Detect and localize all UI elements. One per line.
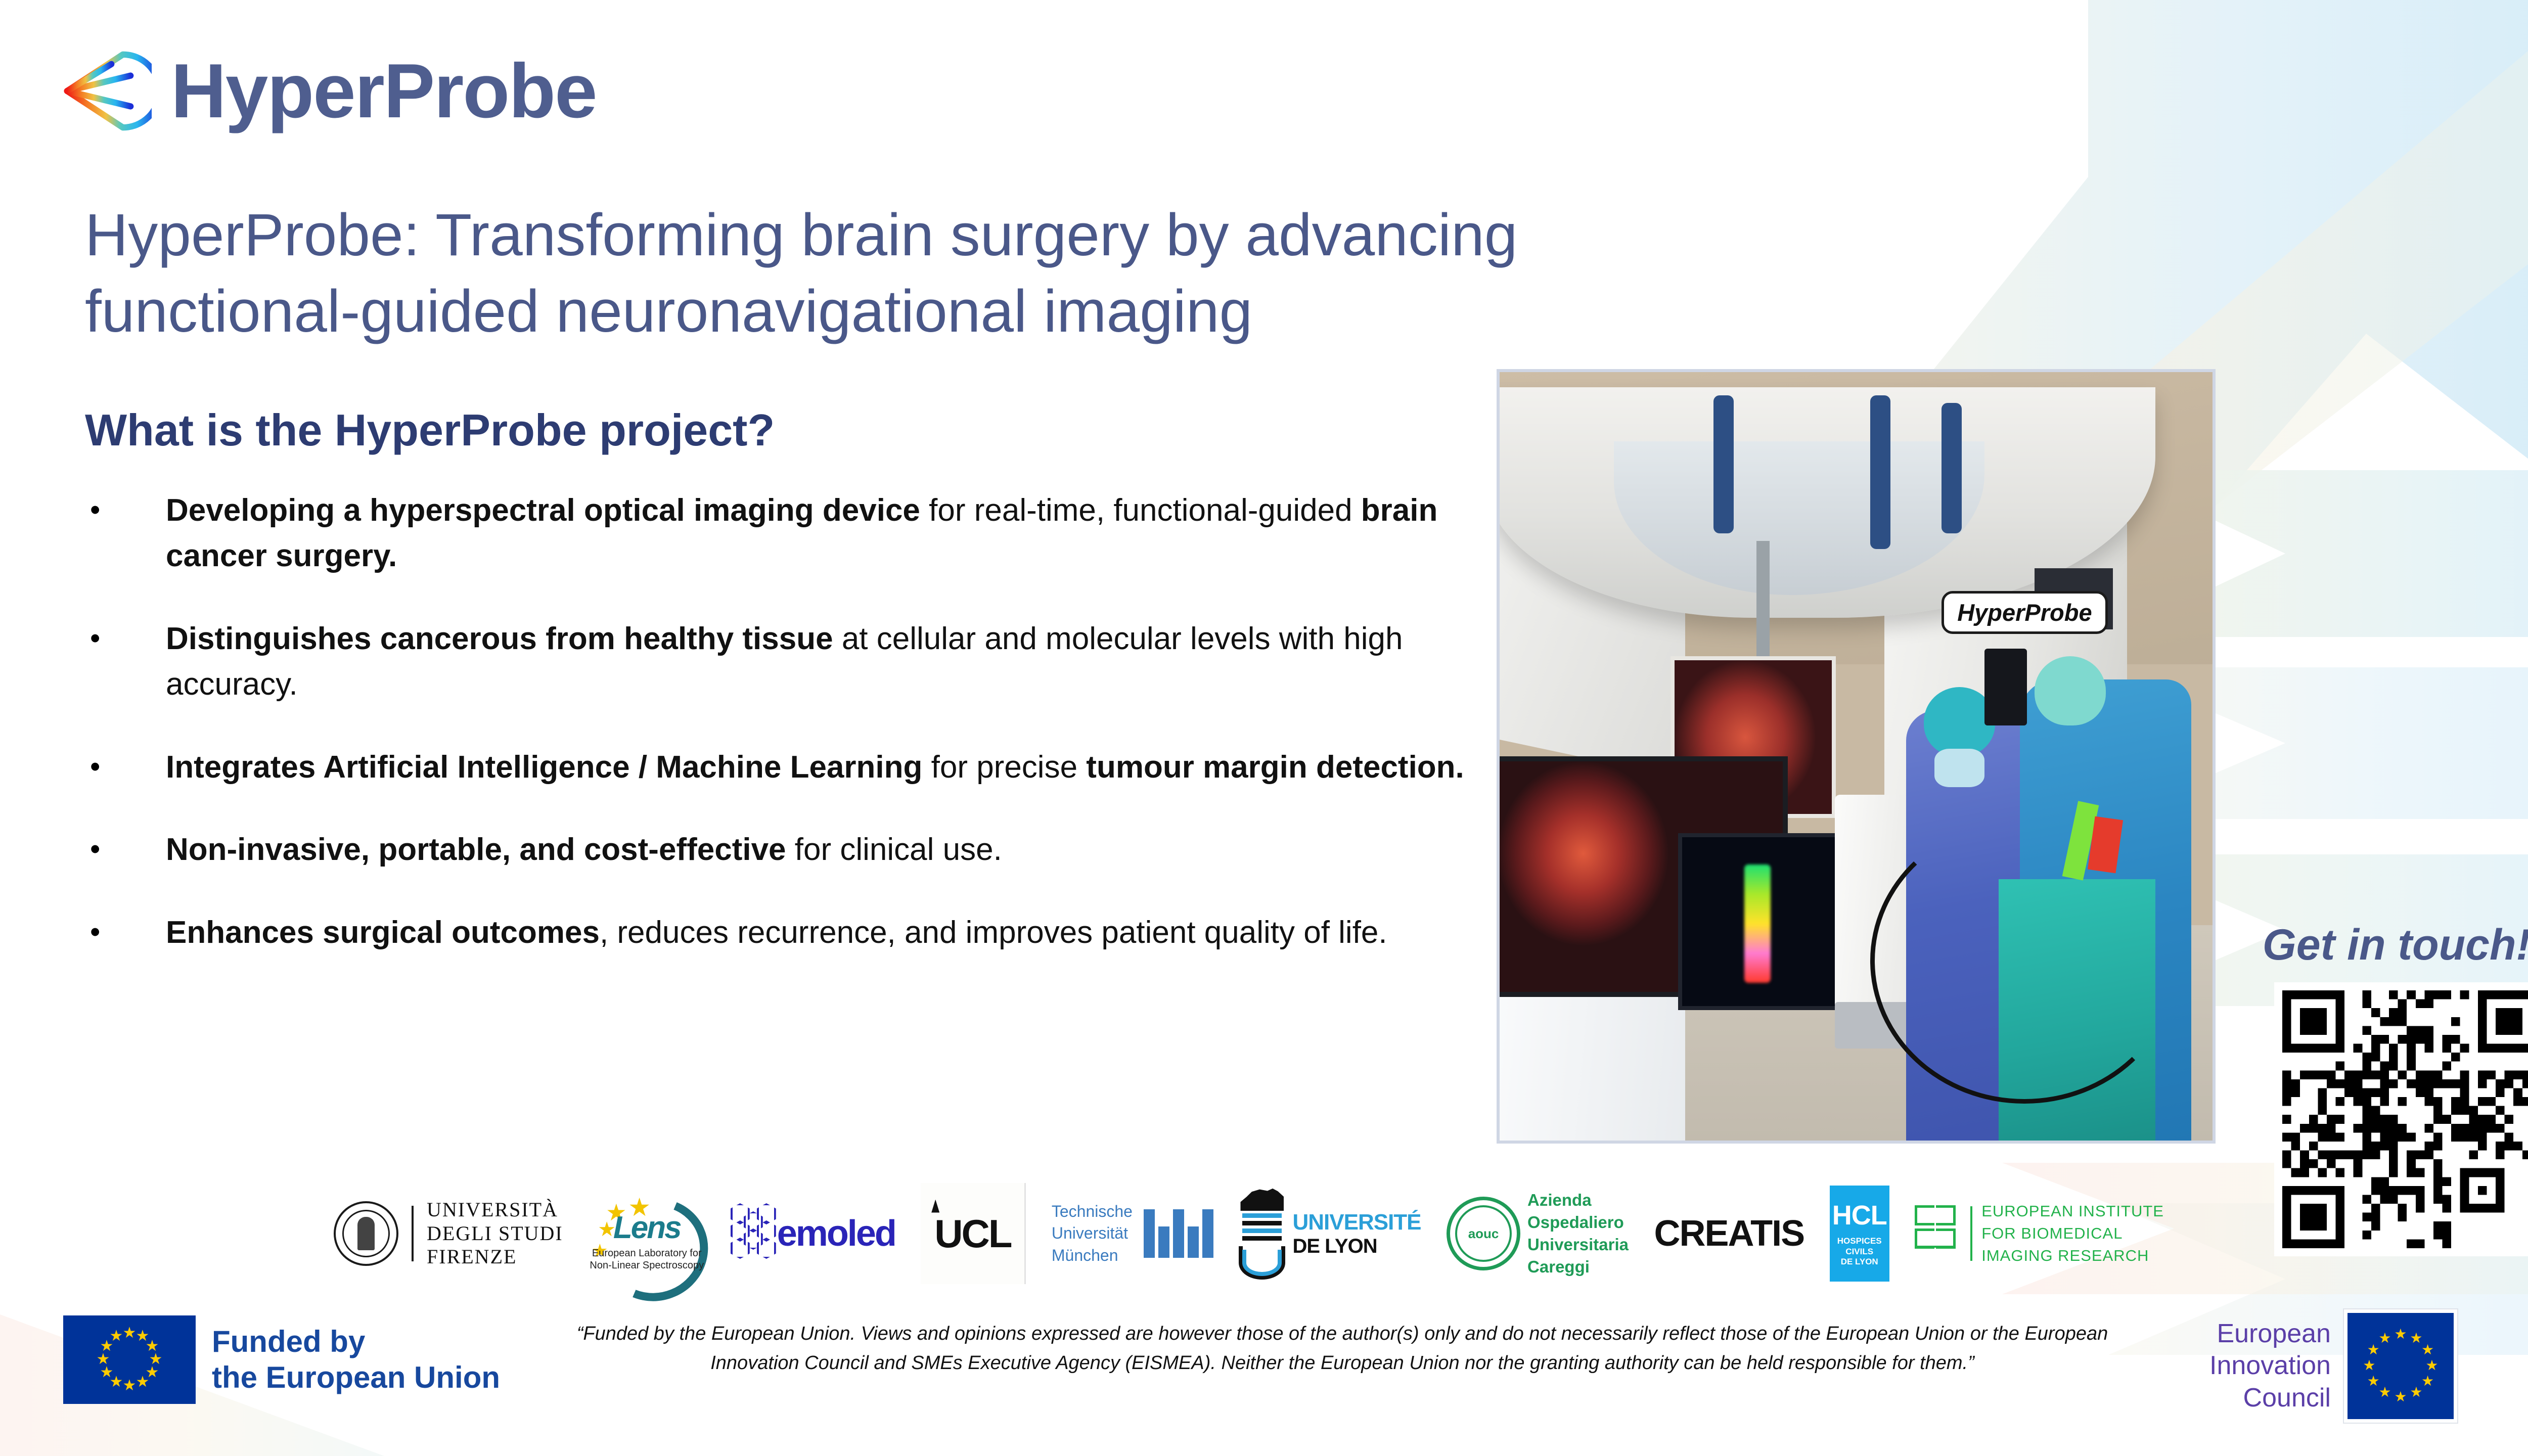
aouc-line-3: Universitaria bbox=[1527, 1234, 1629, 1256]
tum-line-2: Universität bbox=[1052, 1222, 1133, 1244]
eu-disclaimer-text: “Funded by the European Union. Views and… bbox=[551, 1319, 2134, 1378]
hexagon-lattice-icon bbox=[731, 1203, 774, 1264]
hcl-wordmark: HCL bbox=[1832, 1200, 1887, 1231]
partner-logo-creatis: CREATIS bbox=[1654, 1183, 1804, 1284]
eibir-line-3: IMAGING RESEARCH bbox=[1981, 1245, 2164, 1267]
eibir-line-2: FOR BIOMEDICAL bbox=[1981, 1222, 2164, 1245]
bullet-marker: • bbox=[90, 910, 166, 955]
section-heading: What is the HyperProbe project? bbox=[85, 404, 775, 456]
lyon-line-2: DE LYON bbox=[1292, 1235, 1421, 1258]
partner-logo-lens: ★ ★ ★ ★ Lens European Laboratory forNon-… bbox=[589, 1183, 705, 1284]
star-icon: ★ bbox=[110, 1329, 123, 1344]
bullet-text: Distinguishes cancerous from healthy tis… bbox=[166, 616, 1485, 707]
bullet-item: •Distinguishes cancerous from healthy ti… bbox=[90, 616, 1485, 707]
star-icon: ★ bbox=[2421, 1374, 2434, 1388]
aouc-line-2: Ospedaliero bbox=[1527, 1211, 1629, 1234]
eic-badge: European Innovation Council ★★★★★★★★★★★★ bbox=[2209, 1309, 2457, 1423]
partner-logo-strip: UNIVERSITÀ DEGLI STUDI FIRENZE ★ ★ ★ ★ L… bbox=[334, 1175, 2164, 1292]
brand-wordmark: HyperProbe bbox=[171, 53, 597, 129]
bullet-marker: • bbox=[90, 488, 166, 579]
unifi-line-2: DEGLI STUDI bbox=[427, 1222, 563, 1245]
lyon-line-1: UNIVERSITÉ bbox=[1292, 1210, 1421, 1235]
star-icon: ★ bbox=[2394, 1327, 2407, 1341]
eu-flag-icon: ★★★★★★★★★★★★ bbox=[2344, 1309, 2457, 1423]
bullet-item: •Enhances surgical outcomes, reduces rec… bbox=[90, 910, 1485, 955]
aouc-line-1: Azienda bbox=[1527, 1189, 1629, 1211]
eic-line-2: Innovation bbox=[2209, 1350, 2331, 1382]
star-icon: ★ bbox=[123, 1326, 137, 1341]
eu-flag-icon: ★★★★★★★★★★★★ bbox=[63, 1315, 196, 1404]
star-icon: ★ bbox=[2367, 1343, 2380, 1357]
eu-funded-line-1: Funded by bbox=[212, 1324, 500, 1360]
ucl-wordmark: UCL bbox=[934, 1211, 1011, 1257]
star-icon: ★ bbox=[2421, 1343, 2434, 1357]
bullet-text: Developing a hyperspectral optical imagi… bbox=[166, 488, 1485, 579]
operating-room-photo: HyperProbe bbox=[1497, 369, 2216, 1144]
star-icon: ★ bbox=[2378, 1331, 2391, 1345]
tum-line-1: Technische bbox=[1052, 1201, 1133, 1222]
spectral-fan-logo-icon bbox=[56, 43, 152, 139]
lens-wordmark: Lens bbox=[613, 1210, 681, 1246]
partner-logo-hcl: HCL HOSPICES CIVILSDE LYON bbox=[1830, 1183, 1889, 1284]
get-in-touch-heading: Get in touch! bbox=[2230, 920, 2528, 970]
aouc-seal-icon: aouc bbox=[1447, 1197, 1520, 1270]
eibir-mark-icon bbox=[1915, 1205, 1961, 1262]
star-icon: ★ bbox=[2363, 1358, 2375, 1373]
emoled-wordmark: emoled bbox=[777, 1213, 895, 1254]
bullet-text: Non-invasive, portable, and cost-effecti… bbox=[166, 827, 1002, 873]
bullet-item: •Integrates Artificial Intelligence / Ma… bbox=[90, 745, 1485, 790]
slide-canvas: HyperProbe HyperProbe: Transforming brai… bbox=[0, 0, 2528, 1456]
unifi-seal-icon bbox=[334, 1201, 398, 1266]
star-icon: ★ bbox=[2410, 1331, 2422, 1345]
hyperprobe-photo-label: HyperProbe bbox=[1942, 591, 2107, 634]
bullet-marker: • bbox=[90, 616, 166, 707]
star-icon: ★ bbox=[2378, 1385, 2391, 1399]
eibir-line-1: EUROPEAN INSTITUTE bbox=[1981, 1200, 2164, 1222]
eu-funded-line-2: the European Union bbox=[212, 1360, 500, 1396]
partner-logo-tum: Technische Universität München bbox=[1052, 1183, 1213, 1284]
lyon-u-icon bbox=[1239, 1246, 1285, 1280]
bullet-marker: • bbox=[90, 745, 166, 790]
lens-subtitle: European Laboratory forNon-Linear Spectr… bbox=[590, 1248, 704, 1271]
partner-logo-ucl: UCL bbox=[921, 1183, 1026, 1284]
partner-logo-lyon: UNIVERSITÉ DE LYON bbox=[1239, 1183, 1421, 1284]
lyon-stripes-icon bbox=[1242, 1213, 1282, 1244]
partner-logo-aouc: aouc Azienda Ospedaliero Universitaria C… bbox=[1447, 1183, 1629, 1284]
eic-line-1: European bbox=[2209, 1318, 2331, 1350]
aouc-line-4: Careggi bbox=[1527, 1256, 1629, 1278]
creatis-wordmark: CREATIS bbox=[1654, 1213, 1804, 1254]
page-title: HyperProbe: Transforming brain surgery b… bbox=[85, 197, 1632, 350]
contact-qr-code[interactable] bbox=[2274, 982, 2528, 1256]
partner-logo-eibir: EUROPEAN INSTITUTE FOR BIOMEDICAL IMAGIN… bbox=[1915, 1183, 2164, 1284]
star-icon: ★ bbox=[123, 1378, 137, 1393]
partner-logo-emoled: emoled bbox=[731, 1183, 895, 1284]
star-icon: ★ bbox=[2394, 1390, 2407, 1404]
bullet-marker: • bbox=[90, 827, 166, 873]
bullet-text: Integrates Artificial Intelligence / Mac… bbox=[166, 745, 1464, 790]
partner-logo-unifi: UNIVERSITÀ DEGLI STUDI FIRENZE bbox=[334, 1183, 563, 1284]
star-icon: ★ bbox=[136, 1375, 150, 1390]
bullet-item: •Developing a hyperspectral optical imag… bbox=[90, 488, 1485, 579]
tum-line-3: München bbox=[1052, 1245, 1133, 1266]
unifi-line-3: FIRENZE bbox=[427, 1245, 563, 1268]
star-icon: ★ bbox=[2425, 1358, 2438, 1373]
eu-funded-badge: ★★★★★★★★★★★★ Funded by the European Unio… bbox=[63, 1315, 500, 1404]
tum-mark-icon bbox=[1144, 1209, 1213, 1258]
brand-header: HyperProbe bbox=[56, 43, 597, 139]
qr-code-icon bbox=[2282, 990, 2528, 1248]
star-icon: ★ bbox=[2410, 1385, 2422, 1399]
bullet-text: Enhances surgical outcomes, reduces recu… bbox=[166, 910, 1387, 955]
bullet-list: •Developing a hyperspectral optical imag… bbox=[90, 488, 1485, 955]
eic-line-3: Council bbox=[2209, 1382, 2331, 1414]
hcl-subtitle: HOSPICES CIVILSDE LYON bbox=[1830, 1236, 1889, 1267]
star-icon: ★ bbox=[2367, 1374, 2380, 1388]
lion-icon bbox=[1240, 1188, 1284, 1211]
unifi-line-1: UNIVERSITÀ bbox=[427, 1198, 563, 1221]
bullet-item: •Non-invasive, portable, and cost-effect… bbox=[90, 827, 1485, 873]
